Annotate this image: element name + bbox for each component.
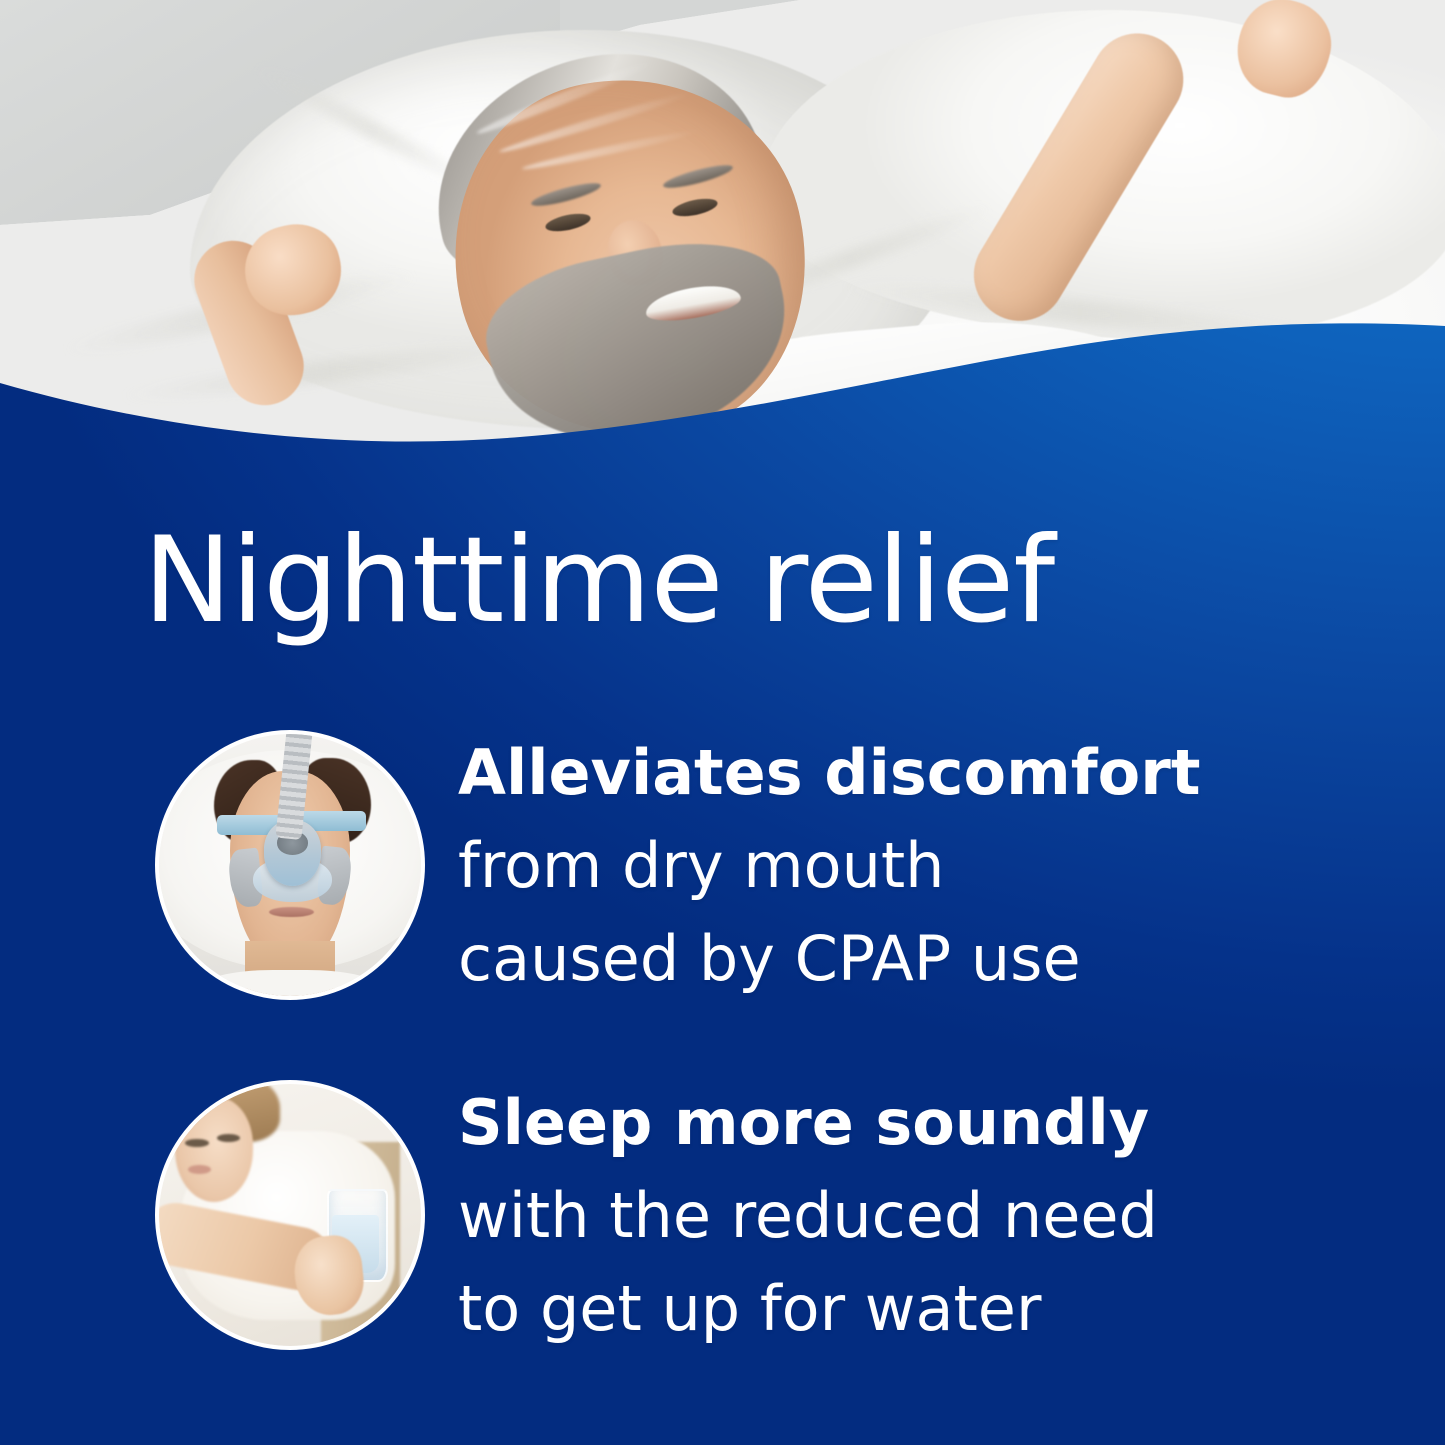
eye-right — [217, 1134, 241, 1142]
eye-left — [185, 1139, 209, 1147]
benefit-line: caused by CPAP use — [458, 912, 1201, 1005]
benefit-copy-2: Sleep more soundly with the reduced need… — [458, 1076, 1158, 1355]
benefit-lead: Alleviates discomfort — [458, 726, 1201, 819]
shirt — [206, 970, 374, 996]
benefit-line: with the reduced need — [458, 1169, 1158, 1262]
benefit-copy-1: Alleviates discomfort from dry mouth cau… — [458, 726, 1201, 1005]
nighttime-relief-ad: Nighttime relief — [0, 0, 1445, 1445]
benefit-lead: Sleep more soundly — [458, 1076, 1158, 1169]
face — [175, 1097, 254, 1202]
woman-reaching-for-water-photo — [155, 1080, 425, 1350]
benefit-line: to get up for water — [458, 1262, 1158, 1355]
cpap-mask-user-photo — [155, 730, 425, 1000]
page-title: Nighttime relief — [143, 518, 1054, 644]
benefit-line: from dry mouth — [458, 819, 1201, 912]
